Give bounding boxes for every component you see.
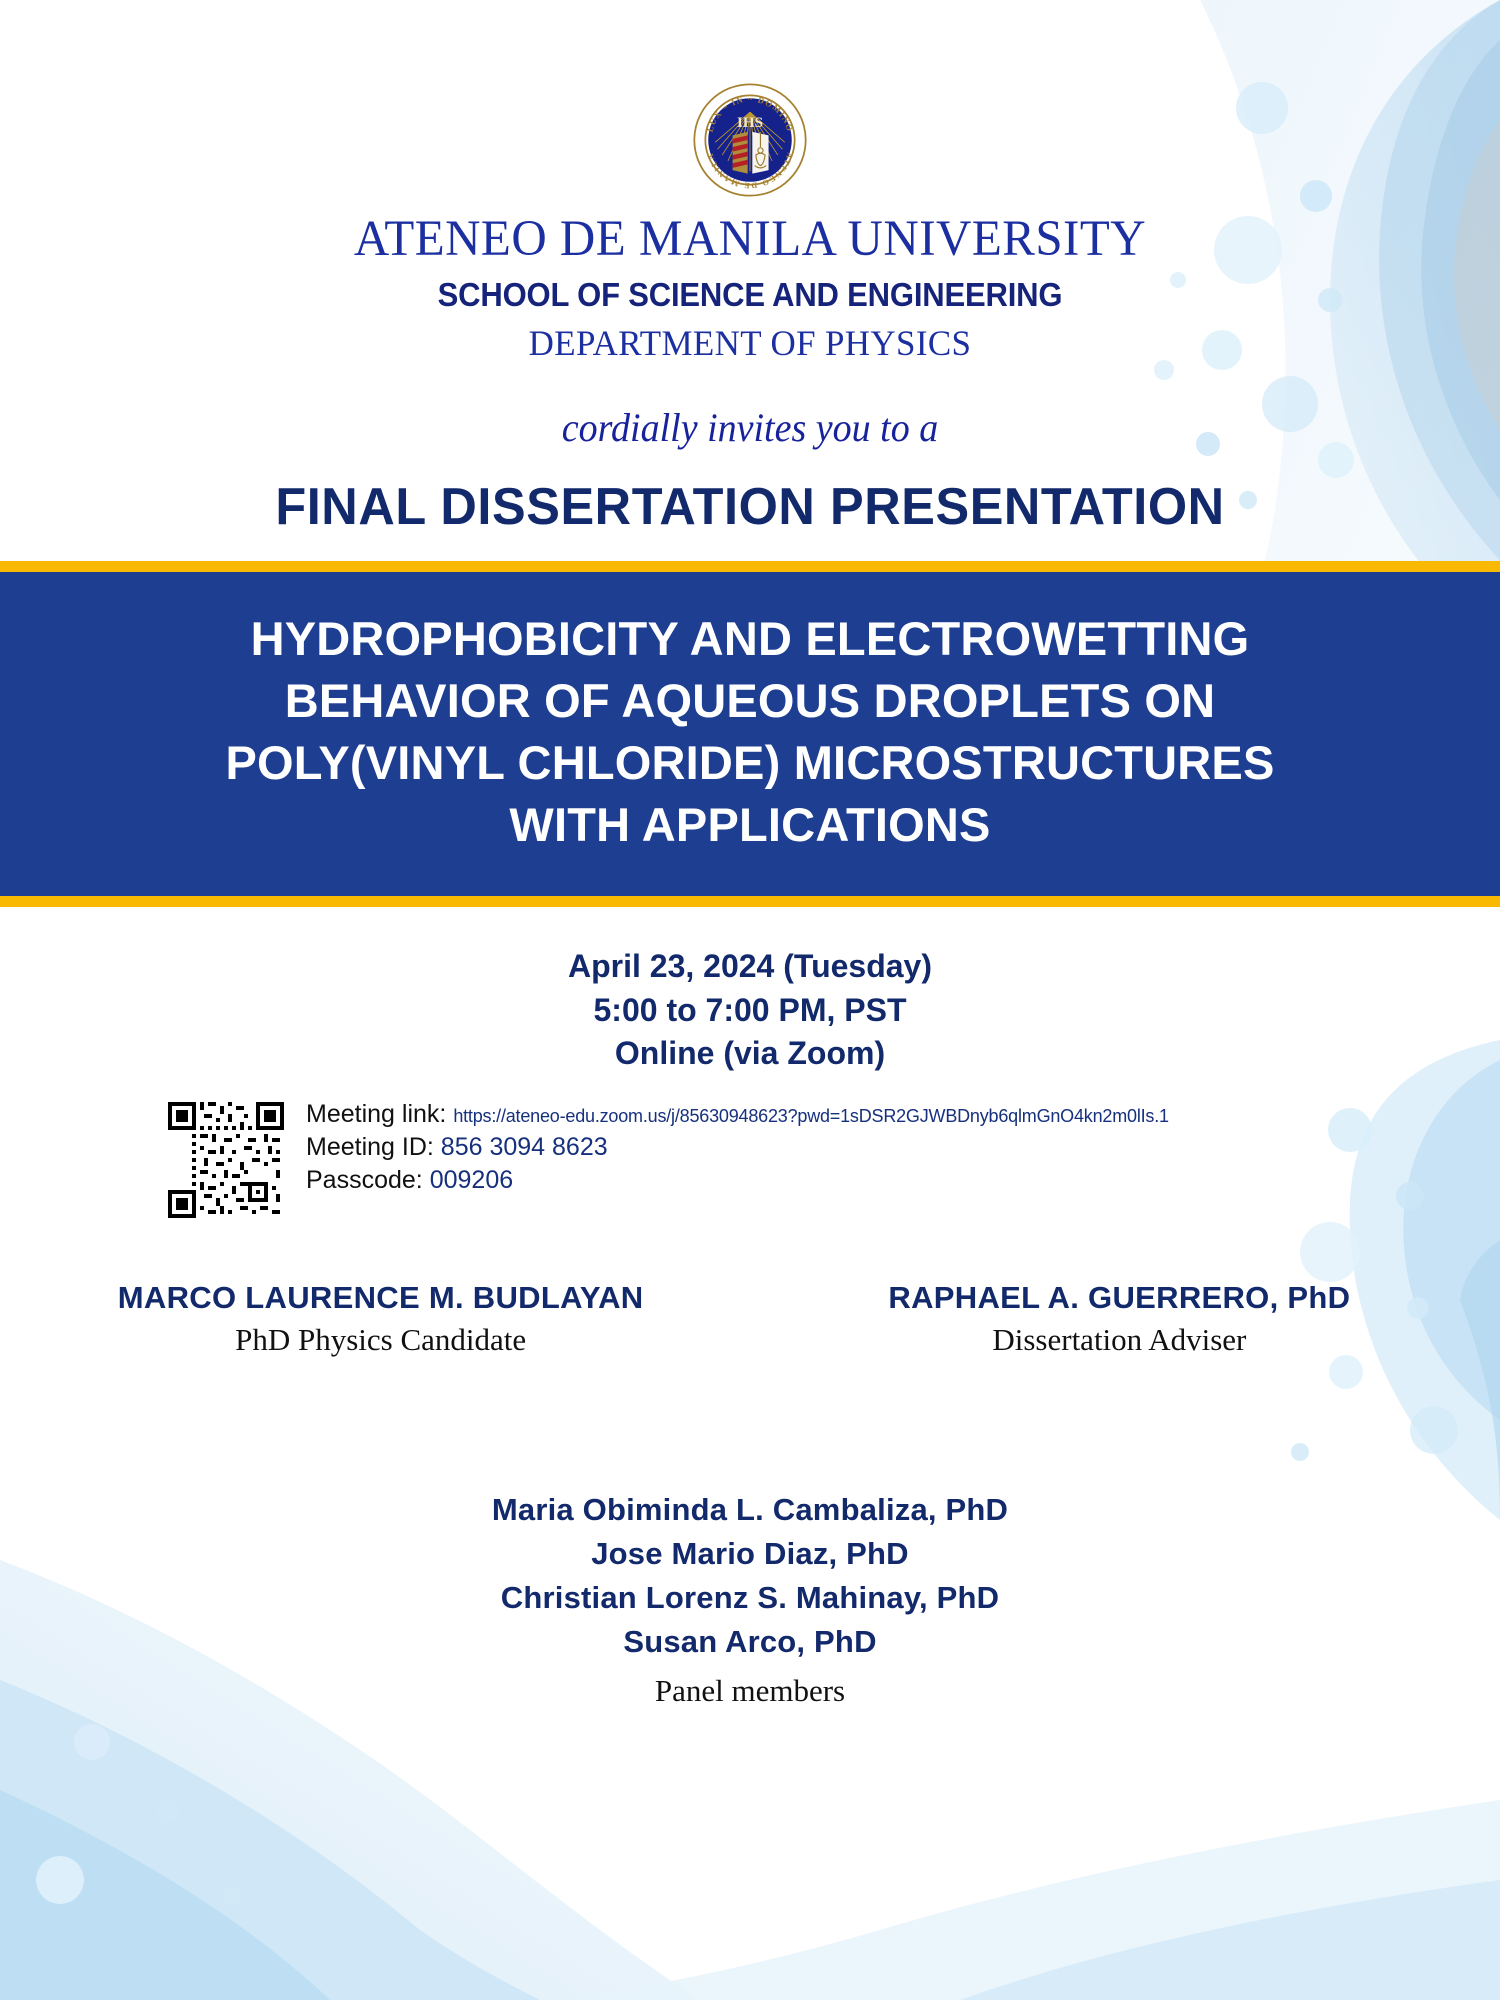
panel-members-block: Maria Obiminda L. Cambaliza, PhD Jose Ma… <box>0 1488 1500 1709</box>
meeting-id-row: Meeting ID: 856 3094 8623 <box>306 1131 1169 1164</box>
panel-member: Susan Arco, PhD <box>0 1620 1500 1664</box>
department-name: DEPARTMENT OF PHYSICS <box>23 322 1478 364</box>
poster-header: IHS LUX ~ IN ~ DOMINO ATENEO DE MANILA A… <box>0 0 1500 537</box>
event-date: April 23, 2024 (Tuesday) <box>0 945 1500 989</box>
qr-code-icon[interactable] <box>168 1102 284 1218</box>
panel-member: Maria Obiminda L. Cambaliza, PhD <box>0 1488 1500 1532</box>
passcode-value: 009206 <box>430 1166 513 1194</box>
zoom-info-text: Meeting link: https://ateneo-edu.zoom.us… <box>306 1098 1169 1197</box>
title-banner: HYDROPHOBICITY AND ELECTROWETTING BEHAVI… <box>0 561 1500 907</box>
dissertation-title-block: HYDROPHOBICITY AND ELECTROWETTING BEHAVI… <box>0 572 1500 896</box>
zoom-access-block: Meeting link: https://ateneo-edu.zoom.us… <box>0 1098 1500 1218</box>
poster-root: IHS LUX ~ IN ~ DOMINO ATENEO DE MANILA A… <box>0 0 1500 2000</box>
gold-rule-top <box>0 561 1500 572</box>
event-details: April 23, 2024 (Tuesday) 5:00 to 7:00 PM… <box>0 945 1500 1076</box>
candidate-block: MARCO LAURENCE M. BUDLAYAN PhD Physics C… <box>66 1280 695 1358</box>
dissertation-title-line: POLY(VINYL CHLORIDE) MICROSTRUCTURES <box>80 732 1420 794</box>
dissertation-title-line: HYDROPHOBICITY AND ELECTROWETTING <box>80 608 1420 670</box>
adviser-role: Dissertation Adviser <box>805 1322 1434 1358</box>
ateneo-seal-icon: IHS LUX ~ IN ~ DOMINO ATENEO DE MANILA <box>692 82 808 198</box>
meeting-link-url[interactable]: https://ateneo-edu.zoom.us/j/85630948623… <box>453 1106 1169 1126</box>
meeting-link-row: Meeting link: https://ateneo-edu.zoom.us… <box>306 1098 1169 1131</box>
svg-text:IHS: IHS <box>737 115 763 131</box>
people-row: MARCO LAURENCE M. BUDLAYAN PhD Physics C… <box>0 1280 1500 1358</box>
candidate-name: MARCO LAURENCE M. BUDLAYAN <box>66 1280 695 1316</box>
passcode-label: Passcode: <box>306 1166 423 1194</box>
meeting-link-label: Meeting link: <box>306 1100 446 1128</box>
panel-member: Jose Mario Diaz, PhD <box>0 1532 1500 1576</box>
meeting-id-value: 856 3094 8623 <box>441 1133 608 1161</box>
school-name: SCHOOL OF SCIENCE AND ENGINEERING <box>45 276 1455 314</box>
passcode-row: Passcode: 009206 <box>306 1164 1169 1197</box>
panel-member: Christian Lorenz S. Mahinay, PhD <box>0 1576 1500 1620</box>
panel-members-caption: Panel members <box>0 1673 1500 1709</box>
event-kind-heading: FINAL DISSERTATION PRESENTATION <box>23 477 1478 537</box>
candidate-role: PhD Physics Candidate <box>66 1322 695 1358</box>
invitation-line: cordially invites you to a <box>38 404 1463 451</box>
event-time: 5:00 to 7:00 PM, PST <box>0 989 1500 1033</box>
adviser-block: RAPHAEL A. GUERRERO, PhD Dissertation Ad… <box>805 1280 1434 1358</box>
dissertation-title-line: BEHAVIOR OF AQUEOUS DROPLETS ON <box>80 670 1420 732</box>
adviser-name: RAPHAEL A. GUERRERO, PhD <box>805 1280 1434 1316</box>
university-name: ATENEO DE MANILA UNIVERSITY <box>30 214 1470 265</box>
event-venue: Online (via Zoom) <box>0 1032 1500 1076</box>
gold-rule-bottom <box>0 896 1500 907</box>
dissertation-title-line: WITH APPLICATIONS <box>80 794 1420 856</box>
meeting-id-label: Meeting ID: <box>306 1133 434 1161</box>
